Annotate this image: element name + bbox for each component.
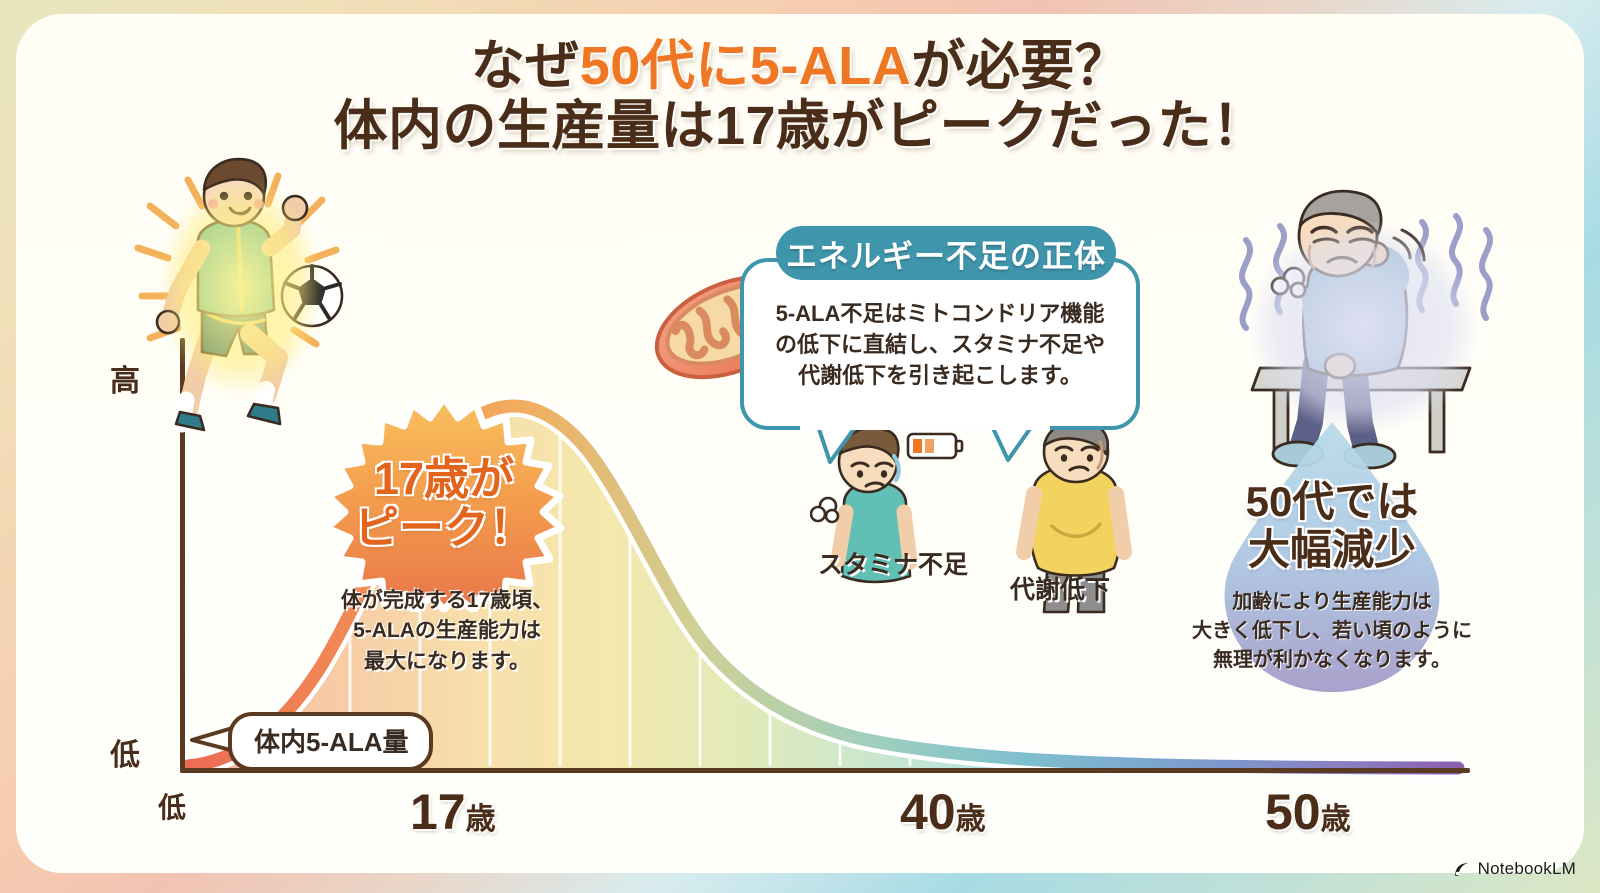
x-tick-17-unit: 歳 <box>466 803 496 836</box>
starburst-text: 17歳が ピーク！ <box>298 396 590 612</box>
x-tick-17-number: 17 <box>410 784 466 840</box>
x-tick-40-unit: 歳 <box>956 803 986 836</box>
x-axis-low-label: 低 <box>158 786 186 826</box>
x-tick-17: 17歳 <box>410 783 496 841</box>
starburst-line-2: ピーク！ <box>354 504 534 553</box>
peak-description-line-1: 体が完成する17歳頃、 <box>282 586 612 616</box>
legend-label: 体内5-ALA量 <box>254 727 409 757</box>
legend-badge: 体内5-ALA量 <box>228 712 433 771</box>
x-tick-50-number: 50 <box>1265 784 1321 840</box>
metabolism-decline-label: 代謝低下 <box>1010 570 1110 606</box>
x-tick-40-number: 40 <box>900 784 956 840</box>
bubble-body-text: 5-ALA不足はミトコンドリア機能 の低下に直結し、スタミナ不足や 代謝低下を引… <box>756 298 1124 392</box>
teardrop-description-line-3: 無理が利かなくなります。 <box>1172 646 1492 675</box>
teardrop-description-line-1: 加齢により生産能力は <box>1172 588 1492 617</box>
starburst-line-1: 17歳が <box>374 455 514 504</box>
infographic-root: なぜ50代に5-ALAが必要？ 体内の生産量は17歳がピークだった！ <box>0 0 1600 893</box>
watermark: NotebookLM <box>1452 859 1576 879</box>
soccer-player-illustration <box>126 138 356 438</box>
bubble-header-label: エネルギー不足の正体 <box>786 231 1106 276</box>
player-glow <box>136 148 346 428</box>
energy-shortage-bubble: エネルギー不足の正体 5-ALA不足はミトコンドリア機能 の低下に直結し、スタミ… <box>740 258 1140 448</box>
x-tick-40: 40歳 <box>900 783 986 841</box>
teardrop-title-line-1: 50代では <box>1168 478 1496 526</box>
x-tick-50-unit: 歳 <box>1321 803 1351 836</box>
peak-description-line-2: 5-ALAの生産能力は <box>282 616 612 646</box>
teardrop-title: 50代では 大幅減少 <box>1168 478 1496 574</box>
bubble-line-1: 5-ALA不足はミトコンドリア機能 <box>756 298 1124 329</box>
watermark-label: NotebookLM <box>1478 859 1576 879</box>
bubble-header: エネルギー不足の正体 <box>776 226 1116 280</box>
notebooklm-icon <box>1452 860 1471 879</box>
teardrop-description-line-2: 大きく低下し、若い頃のように <box>1172 617 1492 646</box>
y-axis-low-label: 低 <box>110 730 140 774</box>
peak-description: 体が完成する17歳頃、 5-ALAの生産能力は 最大になります。 <box>282 586 612 677</box>
peak-starburst-badge: 17歳が ピーク！ <box>298 396 590 612</box>
peak-description-line-3: 最大になります。 <box>282 647 612 677</box>
stamina-shortage-label: スタミナ不足 <box>818 545 968 581</box>
teardrop-title-line-2: 大幅減少 <box>1168 526 1496 574</box>
bubble-line-2: の低下に直結し、スタミナ不足や <box>756 329 1124 360</box>
bubble-line-3: 代謝低下を引き起こします。 <box>756 360 1124 391</box>
x-tick-50: 50歳 <box>1265 783 1351 841</box>
bubble-tail-icon <box>770 426 1110 466</box>
teardrop-description: 加齢により生産能力は 大きく低下し、若い頃のように 無理が利かなくなります。 <box>1172 588 1492 675</box>
